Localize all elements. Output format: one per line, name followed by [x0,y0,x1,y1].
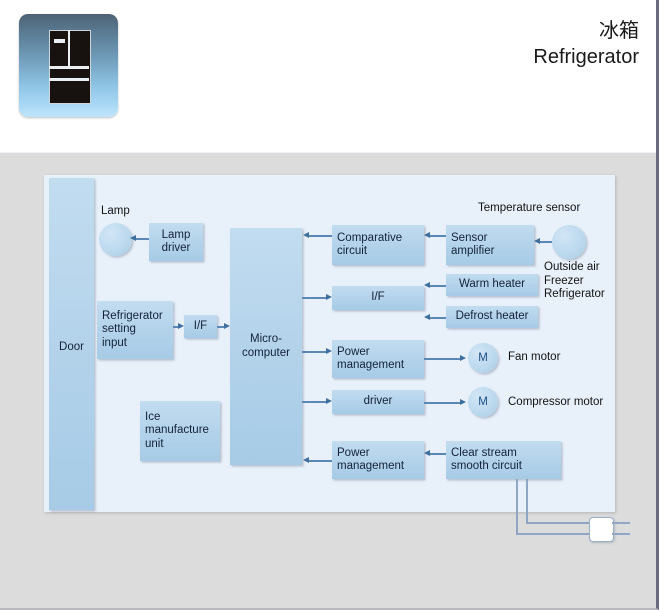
block-if-right-label: I/F [371,291,384,305]
arrowhead-sensoramp-out [424,232,430,238]
connector-if-to-microcomputer [217,326,224,328]
block-microcomputer-label: Micro- computer [242,333,290,360]
power-plug-prong-lower [612,533,630,535]
arrowhead-comparative-out [303,232,309,238]
power-cord-segment-h1 [526,522,592,524]
connector-microcomputer-to-ifright [302,297,326,299]
connector-defrostheater-to-ifright [429,317,446,319]
connector-powermgmt2-to-microcomputer [308,460,332,462]
compressor-motor-symbol-label: M [478,396,488,408]
refrigerator-icon-vertical-split [68,30,70,66]
block-refrigerator-setting-input-label: Refrigerator setting input [102,310,163,351]
compressor-motor-symbol: M [468,387,498,417]
block-defrost-heater-label: Defrost heater [456,310,529,324]
arrowhead-sensoramp-in [534,238,540,244]
arrowhead-powermgmt1-in [326,348,332,354]
arrowhead-powermgmt2-out [303,457,309,463]
temperature-sensor-circle [552,225,586,259]
arrowhead-if-left-in [178,323,184,329]
sensor-targets-label: Outside air Freezer Refrigerator [544,261,605,302]
block-ice-manufacture-unit: Ice manufacture unit [140,401,220,461]
arrowhead-fanmotor-in [460,355,466,361]
block-door-label: Door [49,341,94,355]
fan-motor-label: Fan motor [508,351,560,365]
block-power-management-2-label: Power management [337,447,404,474]
header: 冰箱 Refrigerator [0,0,656,153]
refrigerator-icon-divider-upper [49,66,89,69]
block-lamp-driver-label: Lamp driver [162,229,191,256]
block-sensor-amplifier-label: Sensor amplifier [451,232,494,259]
block-clear-stream-smooth-circuit: Clear stream smooth circuit [446,441,561,479]
refrigerator-icon-handle [54,39,65,43]
block-clear-stream-smooth-circuit-label: Clear stream smooth circuit [451,447,522,474]
power-plug-prong-upper [612,522,630,524]
block-power-management-2: Power management [332,441,424,479]
block-power-management-1-label: Power management [337,346,404,373]
lamp-label: Lamp [101,205,130,219]
block-power-management-1: Power management [332,340,424,378]
block-warm-heater: Warm heater [446,274,538,296]
compressor-motor-label: Compressor motor [508,396,603,410]
diagram-panel: Door Lamp Lamp driver Refrigerator setti… [44,175,615,512]
fan-motor-symbol-label: M [478,352,488,364]
arrowhead-lamp [130,235,136,241]
block-microcomputer: Micro- computer [230,228,302,465]
page-root: 冰箱 Refrigerator Door Lamp Lamp driver Re… [0,0,659,610]
temperature-sensor-label: Temperature sensor [478,202,580,216]
connector-sensoramp-to-comparative [429,235,446,237]
block-defrost-heater: Defrost heater [446,306,538,328]
connector-microcomputer-to-powermgmt1 [302,351,326,353]
connector-warmheater-to-ifright [429,285,446,287]
lamp-circle [99,223,132,256]
connector-lampdriver-to-lamp [134,238,149,240]
connector-microcomputer-to-driver [302,401,326,403]
refrigerator-icon-divider-lower [49,78,89,81]
refrigerator-icon [19,14,118,117]
page-title-cn: 冰箱 [533,19,639,44]
block-if-left-label: I/F [194,320,207,334]
block-warm-heater-label: Warm heater [459,278,525,292]
connector-powermgmt1-to-fanmotor [424,358,460,360]
title-block: 冰箱 Refrigerator [533,19,639,70]
arrowhead-warmheater-out [424,282,430,288]
block-comparative-circuit: Comparative circuit [332,225,424,265]
connector-clearstream-to-powermgmt2 [429,453,446,455]
block-refrigerator-setting-input: Refrigerator setting input [97,301,173,359]
block-if-left: I/F [184,315,217,338]
block-door: Door [49,178,94,510]
page-title-en: Refrigerator [533,44,639,70]
connector-driver-to-compressormotor [424,402,460,404]
fan-motor-symbol: M [468,343,498,373]
arrowhead-ifright-in [326,294,332,300]
power-cord-segment-h2 [516,533,592,535]
power-plug [589,517,614,542]
arrowhead-clearstream-out [424,450,430,456]
arrowhead-defrostheater-out [424,314,430,320]
arrowhead-compressormotor-in [460,399,466,405]
arrowhead-driver-in [326,398,332,404]
block-if-right: I/F [332,286,424,310]
block-ice-manufacture-unit-label: Ice manufacture unit [145,411,209,452]
block-comparative-circuit-label: Comparative circuit [337,232,402,259]
power-cord-segment-v2 [526,479,528,523]
power-cord-segment-v1 [516,479,518,534]
connector-sensor-to-sensoramp [539,241,552,243]
block-sensor-amplifier: Sensor amplifier [446,225,534,265]
block-lamp-driver: Lamp driver [149,223,203,261]
connector-comparative-to-microcomputer [308,235,332,237]
block-driver-label: driver [364,395,393,409]
block-driver: driver [332,390,424,414]
